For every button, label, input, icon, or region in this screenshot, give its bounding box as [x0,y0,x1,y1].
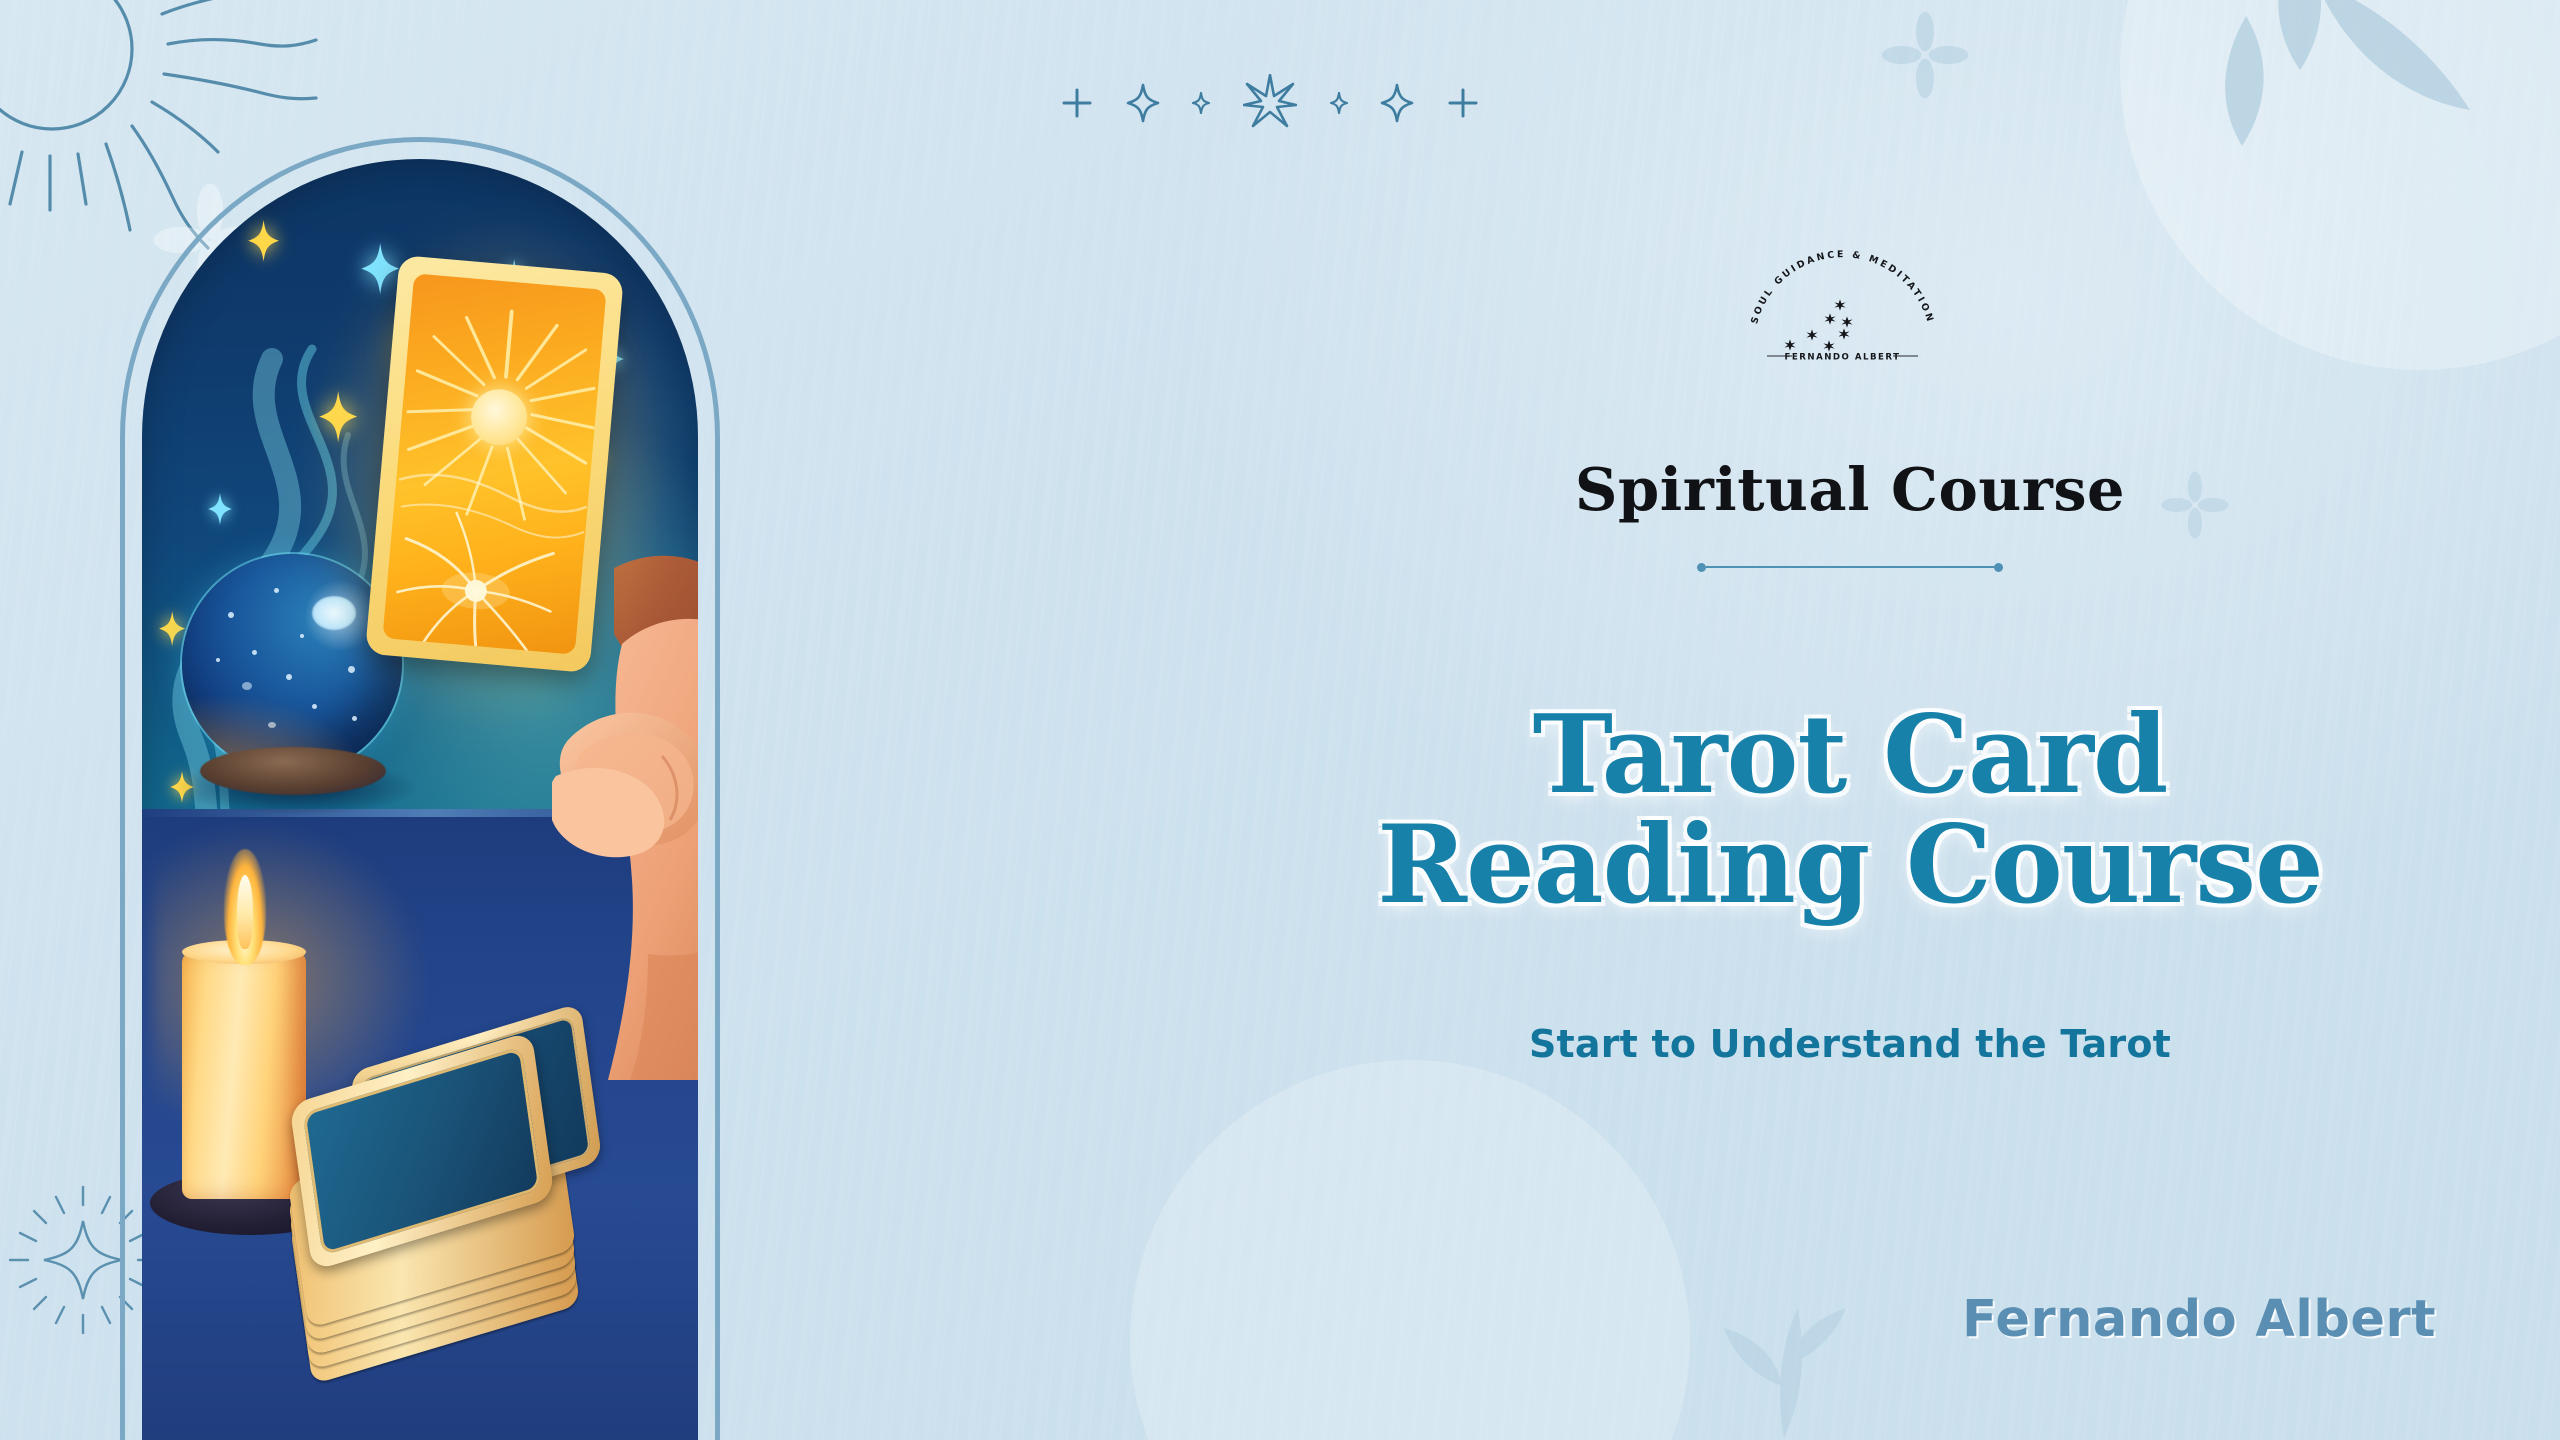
logo-name: FERNANDO ALBERT [1785,353,1901,363]
small-diamond-icon [1329,91,1349,115]
eight-point-star-icon [1243,74,1297,132]
divider-line [1706,566,1994,568]
crystal-ball-base [200,747,386,795]
plus-icon [1446,86,1480,120]
divider-dot-left [1697,563,1706,572]
page-title: Tarot Card Reading Course [1180,700,2520,920]
leaf-cluster-icon-top-right [2150,0,2560,350]
tarot-reading-illustration [120,137,720,1440]
author-name: Fernando Albert [1962,1290,2436,1349]
divider-dot-right [1994,563,2003,572]
page-title-line-1: Tarot Card [1533,692,2168,818]
page-title-line-2: Reading Course [1180,810,2520,920]
held-tarot-card [365,255,624,673]
card-face [382,273,606,654]
logo-stars [1784,299,1852,351]
page-subtitle: Start to Understand the Tarot [1180,1022,2520,1066]
poster-canvas: SOUL GUIDANCE & MEDITATION [0,0,2560,1440]
logo-arc-text: SOUL GUIDANCE & MEDITATION [1749,249,1936,325]
four-point-star-icon [1380,83,1414,123]
sky-star [248,220,279,262]
divider [1280,560,2420,574]
page-kicker: Spiritual Course [1280,455,2420,524]
tarot-card-deck-stack [297,1079,607,1379]
top-decoration-row [1060,78,1480,128]
soft-circle-shape-bottom-center [1130,1060,1690,1440]
plus-icon [1060,86,1094,120]
candle-flame [237,875,253,949]
four-point-star-icon [1126,83,1160,123]
card-light-streaks [383,273,606,646]
small-diamond-icon [1191,91,1211,115]
arch-scene [142,159,698,1440]
brand-logo: SOUL GUIDANCE & MEDITATION [1740,243,1945,363]
flower-icon-top-right [1880,10,1970,100]
leaf-sprig-icon-bottom-center [1710,1290,1860,1440]
candle [182,949,306,1199]
